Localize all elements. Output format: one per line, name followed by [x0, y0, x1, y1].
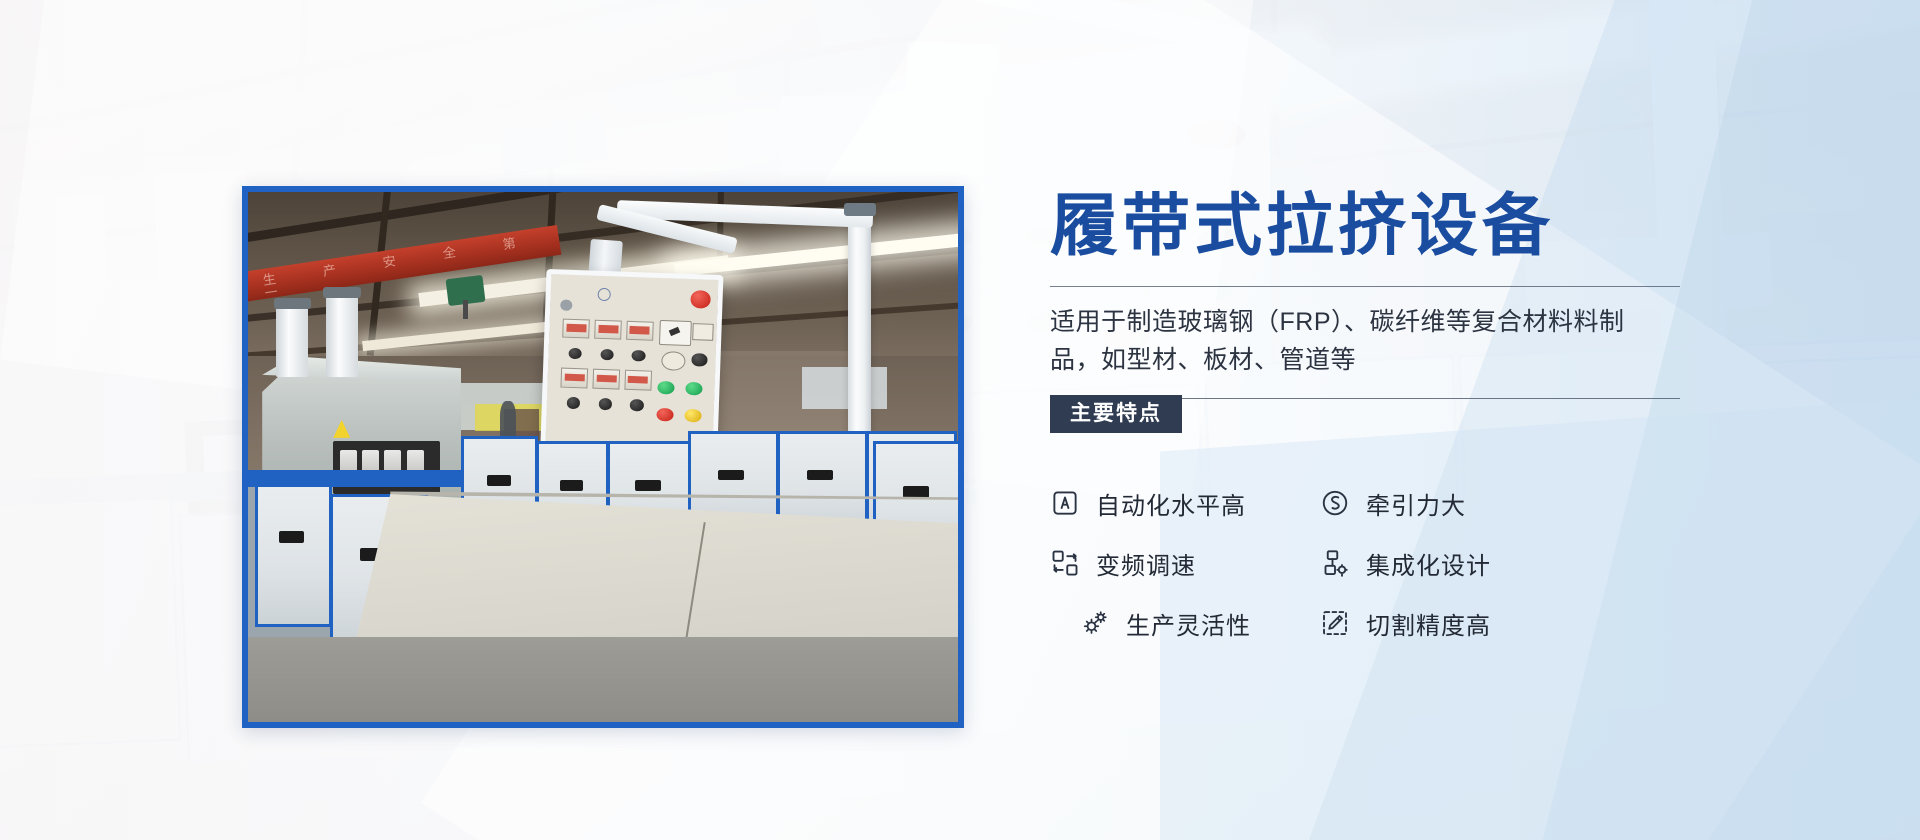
feature-list: 自动化水平高 牵引力大 — [1050, 473, 1680, 653]
feature-label: 自动化水平高 — [1096, 486, 1246, 521]
subtitle-text: 适用于制造玻璃钢（FRP）、碳纤维等复合材料料制品，如型材、板材、管道等 — [1050, 303, 1668, 379]
feature-label: 切割精度高 — [1366, 606, 1491, 641]
cutting-precision-icon — [1320, 608, 1350, 638]
traction-icon — [1320, 488, 1350, 518]
worker-figure — [500, 401, 516, 438]
title-divider — [1050, 286, 1680, 287]
badge-row: 主要特点 — [1040, 395, 1680, 433]
frequency-speed-icon — [1050, 548, 1080, 578]
feature-item-production-flexibility: 生产灵活性 — [1050, 606, 1320, 641]
product-banner: 生 产 安 全 第 一 — [0, 0, 1920, 840]
automation-icon — [1050, 488, 1080, 518]
badge-divider — [1180, 398, 1680, 399]
feature-label: 牵引力大 — [1366, 486, 1466, 521]
factory-scene: 生 产 安 全 第 一 — [248, 192, 958, 722]
feature-item-integrated-design: 集成化设计 — [1320, 546, 1590, 581]
banner-content: 履带式拉挤设备 适用于制造玻璃钢（FRP）、碳纤维等复合材料料制品，如型材、板材… — [1040, 150, 1680, 653]
feature-item-cutting-precision: 切割精度高 — [1320, 606, 1590, 641]
product-photo: 生 产 安 全 第 一 — [242, 186, 964, 728]
feature-item-traction: 牵引力大 — [1320, 486, 1590, 521]
feature-label: 变频调速 — [1096, 546, 1196, 581]
feature-item-automation: 自动化水平高 — [1050, 486, 1320, 521]
panel-logo — [593, 287, 674, 307]
status-badge: 主要特点 — [1050, 395, 1182, 433]
feature-item-frequency-speed: 变频调速 — [1050, 546, 1320, 581]
gears-icon — [1080, 608, 1110, 638]
integrated-design-icon — [1320, 548, 1350, 578]
feature-label: 生产灵活性 — [1126, 606, 1251, 641]
page-title: 履带式拉挤设备 — [1040, 150, 1680, 260]
feature-label: 集成化设计 — [1366, 546, 1491, 581]
